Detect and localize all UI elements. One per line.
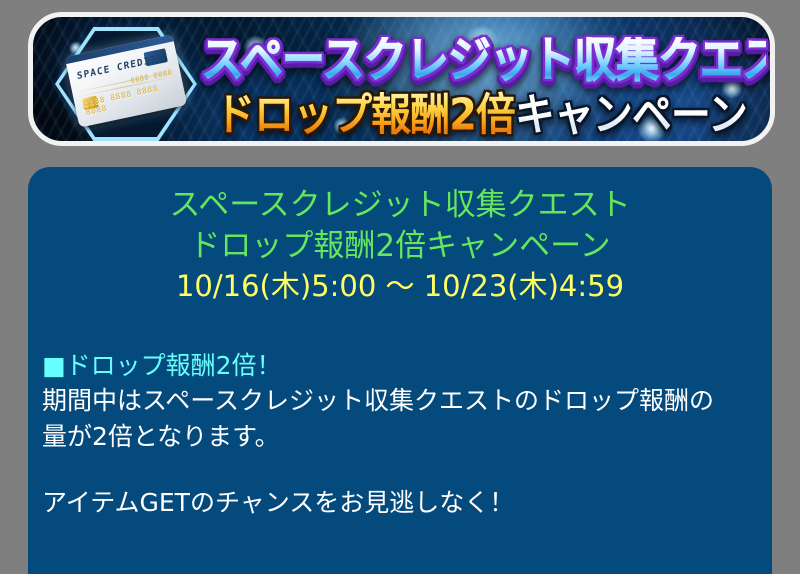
banner-title-line1: スペースクレジット収集クエスト	[201, 37, 766, 85]
body-line-2: 量が2倍となります。	[42, 419, 756, 455]
panel-title-line1: スペースクレジット収集クエスト	[28, 167, 772, 226]
panel-body: ■ドロップ報酬2倍！ 期間中はスペースクレジット収集クエストのドロップ報酬の 量…	[28, 349, 772, 521]
banner-title-line2-highlight: ドロップ報酬2倍	[215, 90, 515, 141]
body-line-1: 期間中はスペースクレジット収集クエストのドロップ報酬の	[42, 383, 756, 419]
banner-artwork: SPACE CREDIT 8888 8888 8888 8888 8888 88…	[28, 12, 775, 146]
body-line-3: アイテムGETのチャンスをお見逃しなく！	[42, 485, 756, 521]
banner-title-line2: ドロップ報酬2倍キャンペーン	[191, 93, 771, 137]
banner-title-line2-suffix: キャンペーン	[515, 90, 747, 141]
campaign-period: 10/16(木)5:00 〜 10/23(木)4:59	[28, 267, 772, 305]
campaign-banner: SPACE CREDIT 8888 8888 8888 8888 8888 88…	[28, 12, 775, 146]
section-heading: ■ドロップ報酬2倍！	[42, 349, 756, 383]
announcement-panel: スペースクレジット収集クエスト ドロップ報酬2倍キャンペーン 10/16(木)5…	[28, 167, 772, 574]
body-spacer	[42, 455, 756, 485]
panel-title-line2: ドロップ報酬2倍キャンペーン	[28, 226, 772, 267]
